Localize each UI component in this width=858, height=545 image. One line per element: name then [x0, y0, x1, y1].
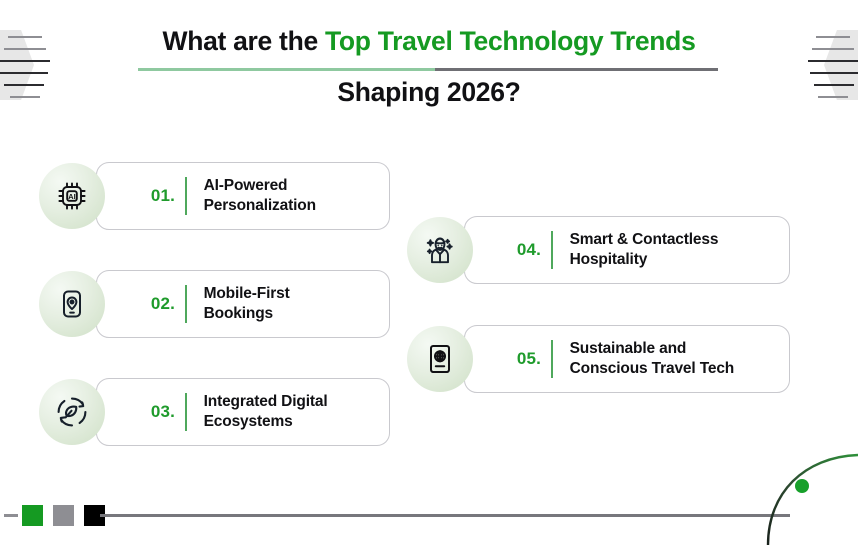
- footer-line-stub: [4, 514, 18, 517]
- trend-card-title: Mobile-First Bookings: [204, 284, 290, 324]
- trend-card-title: Smart & Contactless Hospitality: [570, 230, 719, 270]
- trend-card-number: 05.: [507, 349, 551, 369]
- title-divider: [138, 68, 718, 71]
- card-divider: [551, 340, 553, 378]
- trend-card-03[interactable]: 03. Integrated Digital Ecosystems: [96, 378, 390, 446]
- title-text-accent: Top Travel Technology Trends: [325, 26, 696, 56]
- trend-card-number: 03.: [141, 402, 185, 422]
- card-divider: [185, 285, 187, 323]
- trend-card-title: Integrated Digital Ecosystems: [204, 392, 328, 432]
- mobile-location-pin-icon: [39, 271, 105, 337]
- trend-card-title: AI-Powered Personalization: [204, 176, 316, 216]
- page-title-line-1: What are the Top Travel Technology Trend…: [0, 24, 858, 58]
- concierge-person-sparkles-icon: [407, 217, 473, 283]
- title-text-plain: What are the: [162, 26, 325, 56]
- slide-canvas: What are the Top Travel Technology Trend…: [0, 0, 858, 545]
- passport-globe-icon: [407, 326, 473, 392]
- trend-card-05[interactable]: 05. Sustainable and Conscious Travel Tec…: [464, 325, 790, 393]
- trend-card-number: 04.: [507, 240, 551, 260]
- page-header: What are the Top Travel Technology Trend…: [0, 24, 858, 109]
- card-divider: [185, 177, 187, 215]
- title-divider-gray-segment: [435, 68, 718, 71]
- trend-card-number: 01.: [141, 186, 185, 206]
- svg-text:AI: AI: [68, 192, 75, 201]
- footer-horizontal-line: [100, 514, 790, 517]
- title-divider-green-segment: [138, 68, 435, 71]
- trend-card-title: Sustainable and Conscious Travel Tech: [570, 339, 735, 379]
- trend-card-01[interactable]: AI 01. AI-Powered Personalization: [96, 162, 390, 230]
- page-title-line-2: Shaping 2026?: [0, 75, 858, 109]
- ai-chip-icon: AI: [39, 163, 105, 229]
- trend-card-number: 02.: [141, 294, 185, 314]
- footer-arc-dot: [795, 479, 809, 493]
- swatch-green: [22, 505, 43, 526]
- swatch-gray: [53, 505, 74, 526]
- circular-arrows-leaf-icon: [39, 379, 105, 445]
- card-divider: [185, 393, 187, 431]
- trend-card-04[interactable]: 04. Smart & Contactless Hospitality: [464, 216, 790, 284]
- trend-card-02[interactable]: 02. Mobile-First Bookings: [96, 270, 390, 338]
- card-divider: [551, 231, 553, 269]
- footer-color-swatches: [22, 505, 105, 526]
